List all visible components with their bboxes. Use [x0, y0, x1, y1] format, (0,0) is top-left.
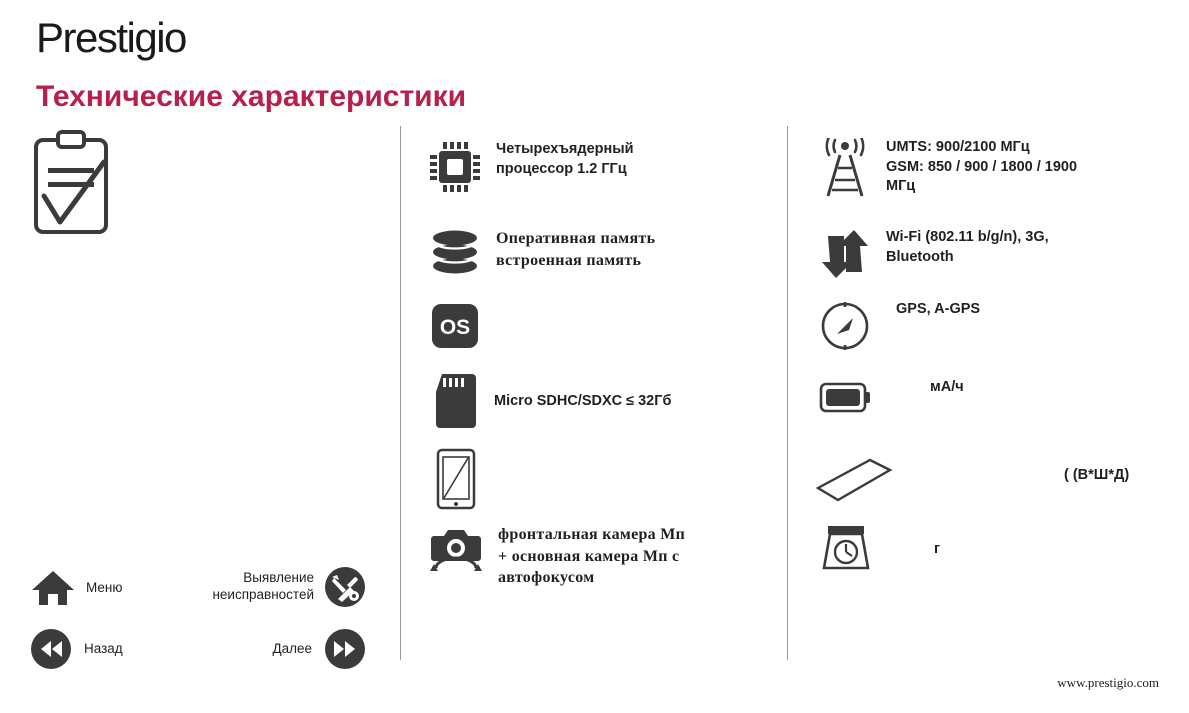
column-divider-left: [400, 126, 401, 660]
spec-label: фронтальная камера Мп + основная камера …: [498, 524, 685, 589]
spec-label: г: [934, 540, 940, 560]
microsd-card-icon: [430, 372, 480, 430]
nav-troubleshooting[interactable]: Выявление неисправностей: [196, 566, 366, 608]
compass-icon: [818, 300, 872, 352]
spec-row: мА/ч: [818, 378, 1168, 418]
clipboard-spec: [30, 130, 116, 238]
smartphone-screen-icon: [434, 448, 478, 510]
website-url: www.prestigio.com: [1057, 675, 1159, 691]
nav-back[interactable]: Назад: [30, 628, 123, 670]
wifi-arrows-icon: [818, 228, 872, 280]
memory-stack-icon: [428, 228, 482, 280]
column-divider-right: [787, 126, 788, 660]
spec-label: Четырехъядерный процессор 1.2 ГГц: [496, 140, 634, 179]
brand-logo: Prestigio: [36, 14, 186, 62]
clipboard-check-icon: [30, 130, 116, 238]
spec-row: OS: [428, 300, 758, 352]
spec-row: Micro SDHC/SDXC ≤ 32Гб: [430, 372, 770, 430]
camera-rotate-icon: [428, 524, 484, 576]
spec-row: г: [820, 518, 1170, 574]
cpu-chip-icon: [428, 140, 482, 194]
spec-label: Оперативная память встроенная память: [496, 228, 655, 271]
spec-row: [434, 448, 764, 510]
slide-page: Prestigio Технические характеристики: [0, 0, 1189, 713]
spec-row: GPS, A-GPS: [818, 300, 1168, 352]
rewind-icon[interactable]: [30, 628, 72, 670]
nav-menu[interactable]: Меню: [30, 568, 123, 608]
spec-label: GPS, A-GPS: [896, 300, 980, 320]
nav-label[interactable]: Далее: [272, 641, 312, 658]
page-title: Технические характеристики: [36, 80, 466, 114]
fast-forward-icon[interactable]: [324, 628, 366, 670]
home-icon[interactable]: [30, 568, 76, 608]
scale-icon: [820, 518, 872, 574]
spec-row: UMTS: 900/2100 МГц GSM: 850 / 900 / 1800…: [818, 138, 1168, 200]
spec-label: Micro SDHC/SDXC ≤ 32Гб: [494, 392, 671, 412]
spec-row: Четырехъядерный процессор 1.2 ГГц: [428, 140, 758, 194]
nav-label[interactable]: Меню: [86, 580, 123, 597]
spec-label: Wi-Fi (802.11 b/g/n), 3G, Bluetooth: [886, 228, 1049, 267]
spec-label: ( (В*Ш*Д): [1064, 466, 1129, 486]
spec-label: мА/ч: [930, 378, 964, 398]
os-badge-icon: OS: [428, 300, 482, 352]
nav-next[interactable]: Далее: [230, 628, 366, 670]
spec-row: Оперативная память встроенная память: [428, 228, 758, 280]
spec-row: Wi-Fi (802.11 b/g/n), 3G, Bluetooth: [818, 228, 1168, 280]
battery-icon: [818, 378, 872, 418]
nav-label[interactable]: Назад: [84, 641, 123, 658]
spec-row: ( (В*Ш*Д): [814, 452, 1164, 508]
spec-label: UMTS: 900/2100 МГц GSM: 850 / 900 / 1800…: [886, 138, 1077, 197]
cell-tower-icon: [818, 138, 872, 200]
nav-label[interactable]: Выявление неисправностей: [212, 570, 314, 604]
svg-text:OS: OS: [440, 316, 470, 339]
dimensions-icon: [814, 452, 894, 508]
tools-icon[interactable]: [324, 566, 366, 608]
spec-row: фронтальная камера Мп + основная камера …: [428, 524, 768, 589]
